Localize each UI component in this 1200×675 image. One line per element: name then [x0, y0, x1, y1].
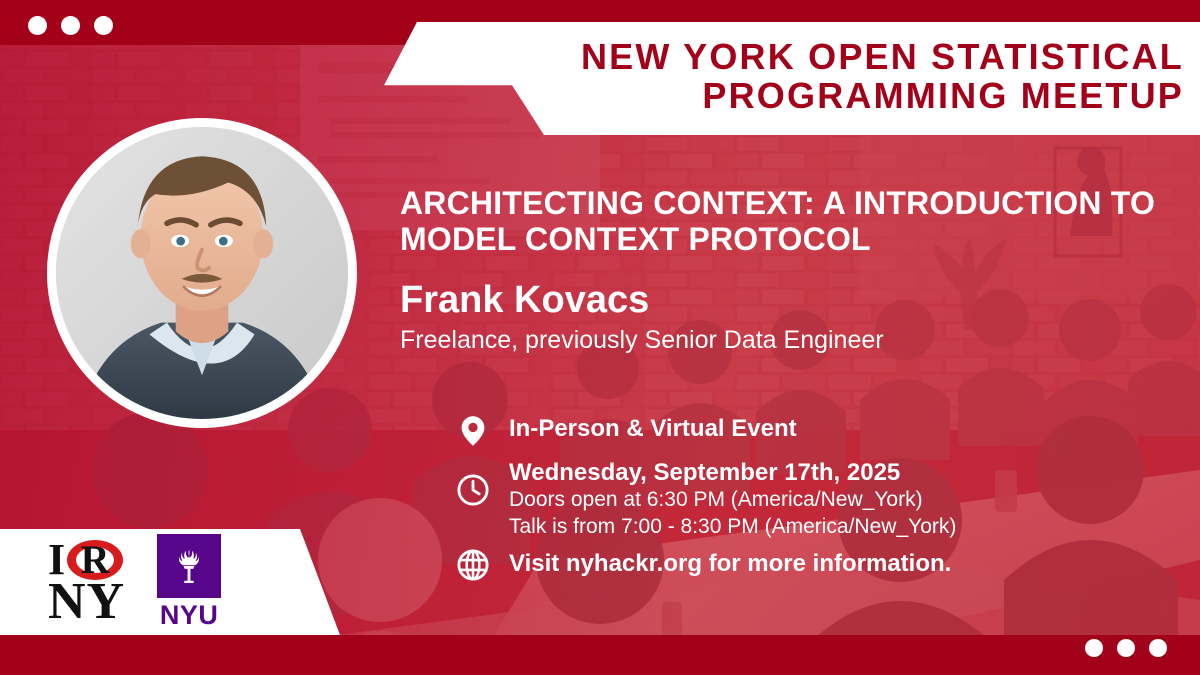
event-poster: NEW YORK OPEN STATISTICAL PROGRAMMING ME… — [0, 0, 1200, 675]
r-logo-letter: R — [67, 538, 123, 582]
dot-icon — [94, 16, 113, 35]
dot-icon — [61, 16, 80, 35]
dot-icon — [1149, 639, 1167, 657]
bottom-red-bar — [0, 635, 1200, 675]
nyu-logo-label: NYU — [160, 600, 219, 631]
dot-icon — [1085, 639, 1103, 657]
nyu-torch-icon — [157, 534, 221, 598]
talk-title: ARCHITECTING CONTEXT: A INTRODUCTION TO … — [400, 186, 1190, 258]
time-block: Wednesday, September 17th, 2025 Doors op… — [509, 456, 956, 540]
clock-icon — [455, 472, 491, 508]
dot-icon — [28, 16, 47, 35]
nyu-logo: NYU — [157, 534, 221, 631]
speaker-name: Frank Kovacs — [400, 280, 1190, 322]
event-date: Wednesday, September 17th, 2025 — [509, 458, 956, 487]
speaker-role: Freelance, previously Senior Data Engine… — [400, 325, 1190, 355]
talk-time: Talk is from 7:00 - 8:30 PM (America/New… — [509, 514, 956, 540]
location-text: In-Person & Virtual Event — [509, 412, 797, 443]
decorative-dots-top-left — [28, 16, 113, 35]
detail-row-location: In-Person & Virtual Event — [455, 412, 1195, 449]
detail-row-time: Wednesday, September 17th, 2025 Doors op… — [455, 456, 1195, 540]
globe-icon — [455, 547, 491, 583]
dot-icon — [1117, 639, 1135, 657]
doors-time: Doors open at 6:30 PM (America/New_York) — [509, 487, 956, 513]
event-details: In-Person & Virtual Event Wednesday, Sep… — [455, 412, 1195, 583]
r-language-logo-icon: R — [67, 538, 123, 582]
detail-row-website[interactable]: Visit nyhackr.org for more information. — [455, 547, 1195, 583]
header-title-line-2: PROGRAMMING MEETUP — [702, 77, 1184, 116]
header-title-line-1: NEW YORK OPEN STATISTICAL — [581, 38, 1184, 77]
decorative-dots-bottom-right — [1085, 639, 1167, 657]
irny-logo: I R NY — [48, 538, 125, 626]
map-pin-icon — [455, 413, 491, 449]
irny-letters-ny: NY — [48, 578, 125, 626]
speaker-avatar — [47, 118, 357, 428]
website-text[interactable]: Visit nyhackr.org for more information. — [509, 547, 951, 578]
talk-info: ARCHITECTING CONTEXT: A INTRODUCTION TO … — [400, 186, 1190, 355]
